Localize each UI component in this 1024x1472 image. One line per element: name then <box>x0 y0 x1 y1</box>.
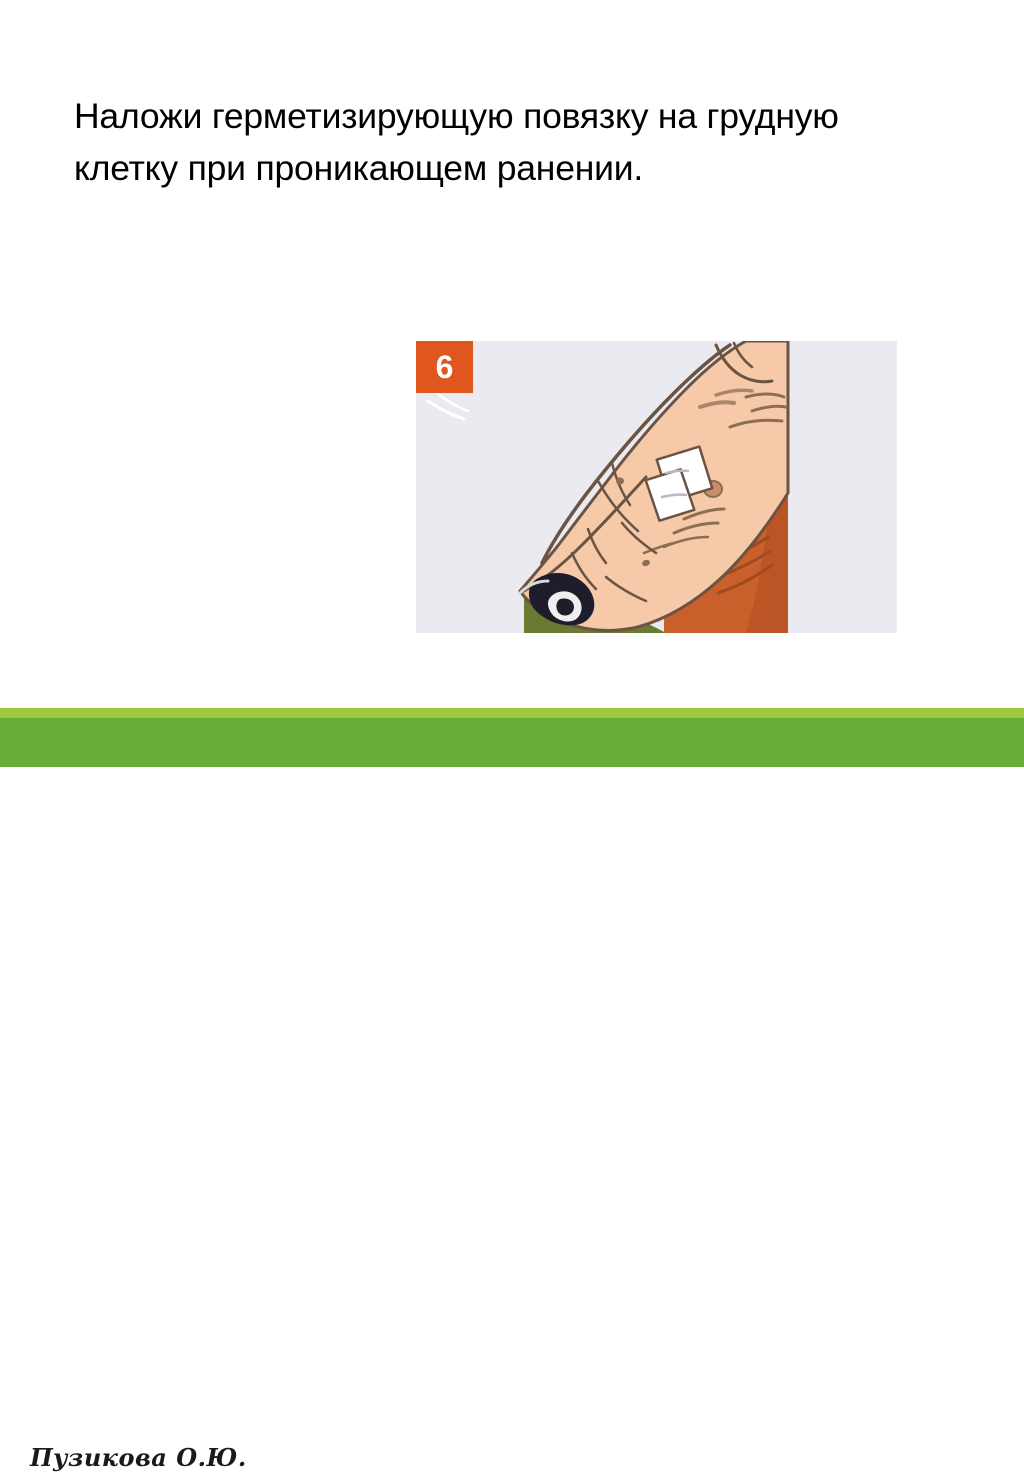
slide-canvas: Наложи герметизирующую повязку на грудну… <box>0 0 1024 767</box>
chest-seal-illustration <box>416 341 897 633</box>
footer-accent-stripe <box>0 708 1024 718</box>
slide-title-block: Наложи герметизирующую повязку на грудну… <box>74 90 864 194</box>
step-number-badge: 6 <box>416 341 473 393</box>
page-title: Наложи герметизирующую повязку на грудну… <box>74 90 864 194</box>
footer-band: Пузикова О.Ю. <box>0 718 1024 767</box>
footer-author-name: Пузикова О.Ю. <box>30 1443 247 1472</box>
illustration-panel: 6 <box>416 341 897 633</box>
